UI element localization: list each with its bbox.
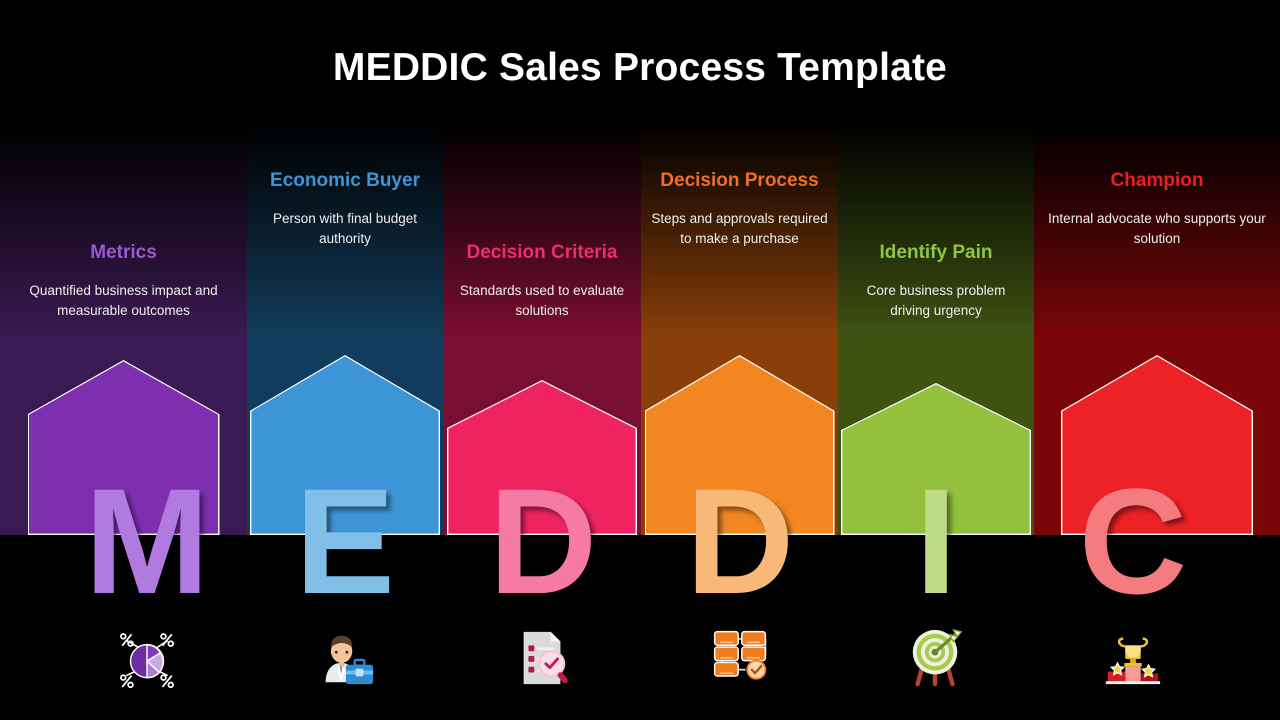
meddic-column-d-2[interactable]: Decision CriteriaStandards used to evalu…	[443, 125, 641, 535]
column-description: Core business problem driving urgency	[848, 281, 1024, 321]
workflow-diagram-icon[interactable]	[695, 612, 785, 702]
column-header: Decision ProcessSteps and approvals requ…	[641, 170, 838, 249]
column-header: ChampionInternal advocate who supports y…	[1034, 170, 1280, 249]
meddic-columns: MetricsQuantified business impact and me…	[0, 125, 1280, 535]
column-description: Quantified business impact and measurabl…	[10, 281, 237, 321]
column-header: Identify PainCore business problem drivi…	[838, 242, 1034, 321]
target-dart-icon[interactable]	[891, 612, 981, 702]
column-header: Decision CriteriaStandards used to evalu…	[443, 242, 641, 321]
column-description: Internal advocate who supports your solu…	[1044, 209, 1270, 249]
column-description: Person with final budget authority	[257, 209, 433, 249]
column-title: Decision Criteria	[453, 242, 631, 265]
meddic-column-d-3[interactable]: Decision ProcessSteps and approvals requ…	[641, 125, 838, 535]
meddic-column-c-5[interactable]: ChampionInternal advocate who supports y…	[1034, 125, 1280, 535]
icon-row	[0, 612, 1280, 704]
column-header: Economic BuyerPerson with final budget a…	[247, 170, 443, 249]
meddic-column-m-0[interactable]: MetricsQuantified business impact and me…	[0, 125, 247, 535]
meddic-column-i-4[interactable]: Identify PainCore business problem drivi…	[838, 125, 1034, 535]
meddic-column-e-1[interactable]: Economic BuyerPerson with final budget a…	[247, 125, 443, 535]
column-title: Metrics	[10, 242, 237, 265]
column-header: MetricsQuantified business impact and me…	[0, 242, 247, 321]
column-title: Decision Process	[651, 170, 828, 193]
column-title: Identify Pain	[848, 242, 1024, 265]
page-title: MEDDIC Sales Process Template	[0, 46, 1280, 90]
pie-chart-percent-icon[interactable]	[102, 612, 192, 702]
column-title: Champion	[1044, 170, 1270, 193]
slide-canvas: MEDDIC Sales Process Template MetricsQua…	[0, 0, 1280, 720]
businessman-briefcase-icon[interactable]	[300, 612, 390, 702]
trophy-podium-icon[interactable]	[1088, 612, 1178, 702]
checklist-magnifier-icon[interactable]	[498, 612, 588, 702]
column-description: Steps and approvals required to make a p…	[651, 209, 828, 249]
column-title: Economic Buyer	[257, 170, 433, 193]
column-description: Standards used to evaluate solutions	[453, 281, 631, 321]
